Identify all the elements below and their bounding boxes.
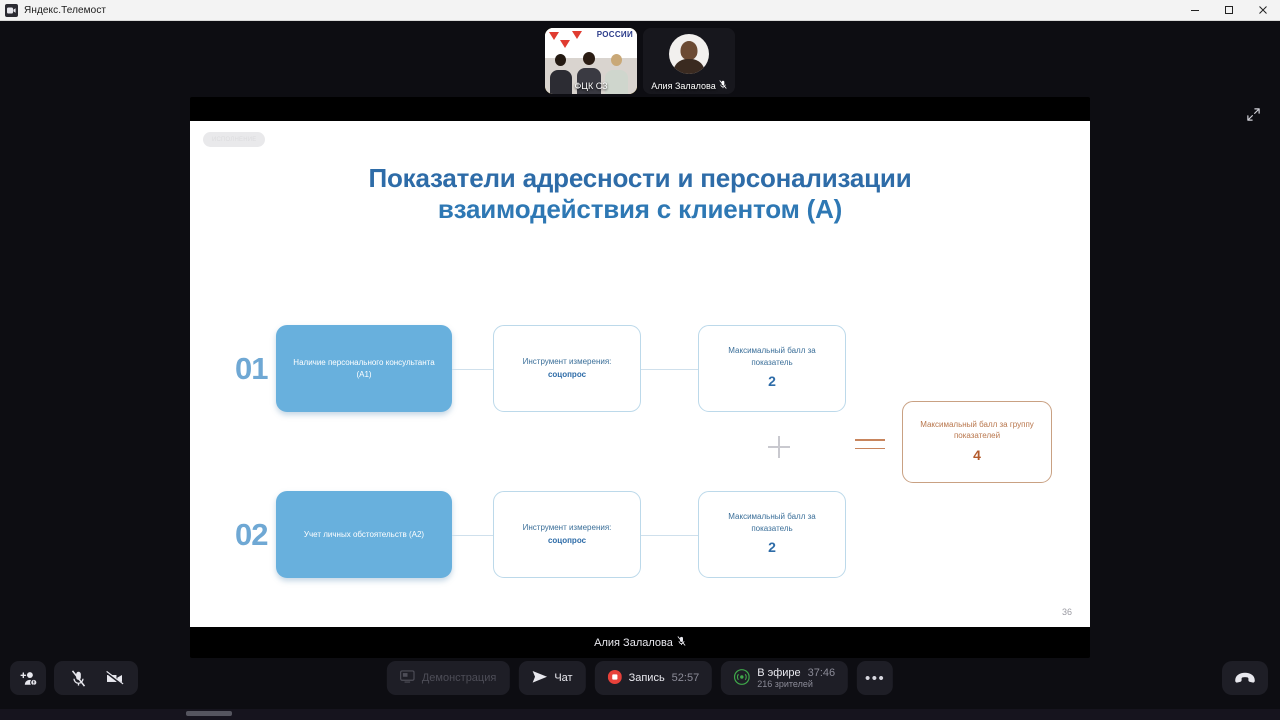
participant-strip: РОССИИ ФЦК СЗ Алия За — [0, 28, 1280, 94]
connector-line — [641, 535, 698, 536]
live-time: 37:46 — [808, 667, 836, 680]
share-screen-button[interactable]: Демонстрация — [387, 661, 510, 695]
window-title: Яндекс.Телемост — [24, 5, 106, 16]
tool-label: Инструмент измерения: — [523, 522, 612, 534]
indicator-name-box: Учет личных обстоятельств (А2) — [276, 491, 452, 578]
equals-operator-icon — [855, 439, 885, 449]
avatar — [669, 34, 709, 74]
os-taskbar[interactable] — [0, 709, 1280, 720]
recording-button[interactable]: Запись 52:57 — [595, 661, 713, 695]
window-minimize-button[interactable] — [1178, 0, 1212, 21]
record-icon — [608, 670, 622, 687]
telemost-app: РОССИИ ФЦК СЗ Алия За — [0, 21, 1280, 709]
chat-label: Чат — [554, 672, 572, 684]
mic-off-button[interactable] — [60, 661, 96, 695]
indicators-diagram: 01 Наличие персонального консультанта (А… — [190, 301, 1090, 601]
connector-line — [452, 535, 493, 536]
mic-off-icon — [719, 80, 727, 91]
indicator-name-box: Наличие персонального консультанта (А1) — [276, 325, 452, 412]
send-icon — [531, 670, 547, 687]
max-score-box: Максимальный балл за показатель 2 — [698, 491, 846, 578]
measurement-tool-box: Инструмент измерения: соцопрос — [493, 325, 641, 412]
participant-name: Алия Залалова — [643, 80, 735, 91]
connector-line — [641, 369, 698, 370]
indicator-row: 01 Наличие персонального консультанта (А… — [190, 325, 1090, 412]
score-value: 2 — [768, 537, 776, 557]
slide-title-line-2: взаимодействия с клиентом (А) — [190, 194, 1090, 225]
participant-name: ФЦК СЗ — [545, 81, 637, 91]
group-total-label: Максимальный балл за группу показателей — [913, 419, 1041, 442]
window-titlebar: Яндекс.Телемост — [0, 0, 1280, 21]
av-controls-group — [54, 661, 138, 695]
participant-tile-aliya-zalalova[interactable]: Алия Залалова — [643, 28, 735, 94]
max-score-box: Максимальный балл за показатель 2 — [698, 325, 846, 412]
slide-title-line-1: Показатели адресности и персонализации — [190, 163, 1090, 194]
share-screen-icon — [400, 670, 415, 686]
add-participant-button[interactable] — [10, 661, 46, 695]
group-total-value: 4 — [973, 445, 981, 465]
toolbar-left-group — [10, 661, 138, 695]
plus-operator-icon — [768, 436, 790, 458]
chat-button[interactable]: Чат — [518, 661, 585, 695]
group-total-box: Максимальный балл за группу показателей … — [902, 401, 1052, 483]
score-label: Максимальный балл за показатель — [709, 345, 835, 368]
slide-title: Показатели адресности и персонализации в… — [190, 163, 1090, 225]
score-label: Максимальный балл за показатель — [709, 511, 835, 534]
presentation-slide: ИСПОЛНЕНИЕ Показатели адресности и персо… — [190, 121, 1090, 627]
participant-tile-fck-sz[interactable]: РОССИИ ФЦК СЗ — [545, 28, 637, 94]
slide-badge: ИСПОЛНЕНИЕ — [203, 132, 265, 147]
more-options-button[interactable]: ••• — [857, 661, 893, 695]
tool-label: Инструмент измерения: — [523, 356, 612, 368]
camera-off-button[interactable] — [96, 661, 132, 695]
banner-text: РОССИИ — [597, 30, 633, 39]
tool-value: соцопрос — [548, 369, 586, 381]
live-label: В эфире — [757, 667, 800, 680]
connector-line — [452, 369, 493, 370]
app-icon — [5, 4, 18, 17]
share-screen-label: Демонстрация — [422, 672, 497, 684]
measurement-tool-box: Инструмент измерения: соцопрос — [493, 491, 641, 578]
toolbar-right-group — [1222, 661, 1268, 695]
recording-label: Запись — [629, 672, 665, 684]
recording-time: 52:57 — [672, 672, 700, 684]
indicator-row: 02 Учет личных обстоятельств (А2) Инстру… — [190, 491, 1090, 578]
end-call-button[interactable] — [1222, 661, 1268, 695]
shared-screen-stage[interactable]: ИСПОЛНЕНИЕ Показатели адресности и персо… — [190, 97, 1090, 658]
participant-name-label: ФЦК СЗ — [574, 81, 607, 91]
tool-value: соцопрос — [548, 535, 586, 547]
window-close-button[interactable] — [1246, 0, 1280, 21]
broadcast-icon — [734, 669, 750, 688]
slide-page-number: 36 — [1062, 607, 1072, 617]
window-maximize-button[interactable] — [1212, 0, 1246, 21]
toolbar-center-group: Демонстрация Чат Запись 52: — [387, 661, 893, 695]
viewers-count: 216 зрителей — [757, 679, 835, 689]
live-info: В эфире 37:46 216 зрителей — [757, 667, 835, 690]
taskbar-item[interactable] — [186, 711, 232, 716]
live-broadcast-button[interactable]: В эфире 37:46 216 зрителей — [721, 661, 848, 695]
participant-name-label: Алия Залалова — [651, 81, 715, 91]
call-toolbar: Демонстрация Чат Запись 52: — [0, 647, 1280, 709]
row-number: 01 — [235, 351, 267, 387]
row-number: 02 — [235, 517, 267, 553]
expand-icon[interactable] — [1240, 101, 1266, 127]
score-value: 2 — [768, 371, 776, 391]
